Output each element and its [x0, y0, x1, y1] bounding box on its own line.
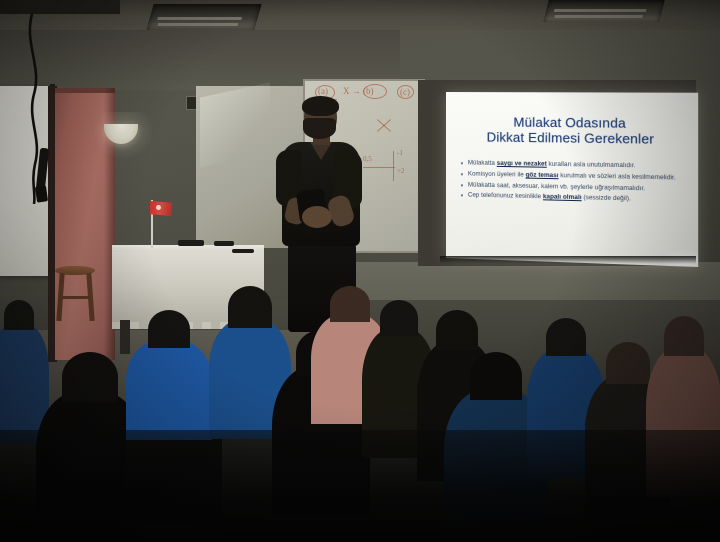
- bullet-1-pre: Mülakatta: [468, 159, 497, 167]
- cable-clip-end-icon: [35, 185, 48, 202]
- audience-member-head: [62, 352, 118, 402]
- ceiling-light-right-icon: [543, 0, 664, 22]
- table-leg: [120, 320, 130, 354]
- bullet-2-pre: Komisyon üyeleri ile: [468, 170, 526, 178]
- presenter-beard: [303, 118, 336, 139]
- bullet-2-post: kurulmalı ve sözleri asla kesilmemelidir…: [559, 172, 676, 181]
- bullet-4-emphasis: kapalı olmalı: [543, 194, 582, 202]
- presenter-hands: [302, 206, 332, 228]
- audience-member-head: [228, 286, 272, 328]
- audience-member-head: [436, 310, 478, 350]
- whiteboard-mark-6: +2: [397, 167, 404, 175]
- bullet-4-post: (sessizde değil).: [582, 194, 631, 202]
- whiteboard-mark-1: (a): [318, 86, 328, 96]
- audience-member-head: [664, 316, 704, 356]
- bullet-2-emphasis: göz teması: [526, 171, 559, 179]
- presenter-hair: [302, 96, 339, 116]
- slide-title: Mülakat Odasında Dikkat Edilmesi Gereken…: [459, 114, 684, 147]
- audience-member-head: [470, 352, 522, 400]
- audience-member-head: [148, 310, 190, 348]
- bullet-1-post: kuralları asla unutulmamalıdır.: [547, 161, 636, 170]
- table-object-3: [232, 249, 254, 253]
- table-object-2: [214, 241, 234, 246]
- stool-stretcher: [60, 296, 92, 299]
- bullet-3-pre: Mülakatta saat, aksesuar, kalem vb. şeyl…: [468, 181, 645, 192]
- turkish-flag-icon: [150, 201, 172, 216]
- audience-member-head: [330, 286, 370, 322]
- bullet-1-emphasis: saygı ve nezaket: [497, 160, 547, 168]
- bullet-4-pre: Cep telefonunuz kesinlikle: [468, 192, 543, 201]
- slide-bullet-list: Mülakatta saygı ve nezaket kuralları asl…: [459, 159, 684, 205]
- whiteboard-mark-3: (c): [400, 87, 410, 97]
- ceiling-dark-strip: [0, 0, 120, 14]
- ceiling-light-left-icon: [146, 4, 261, 30]
- flag-emblem-icon: [156, 205, 161, 210]
- audience-member-body: [126, 340, 212, 440]
- audience-member-head: [4, 300, 34, 330]
- audience-member-head: [606, 342, 650, 384]
- audience-member-head: [546, 318, 586, 356]
- audience-member-head: [380, 300, 418, 336]
- audience-member-body: [646, 347, 720, 497]
- projected-slide: Mülakat Odasında Dikkat Edilmesi Gereken…: [446, 92, 698, 267]
- classroom-photo: (a) X → (b) (c) 0,5 -1 +2 Mülakat Odasın…: [0, 0, 720, 542]
- whiteboard-mark-5: -1: [397, 149, 403, 157]
- table-object-1: [178, 240, 204, 246]
- screen-bottom-shadow: [440, 256, 696, 264]
- slide-bullet-4: Cep telefonunuz kesinlikle kapalı olmalı…: [459, 192, 684, 206]
- slide-title-line-2: Dikkat Edilmesi Gerekenler: [459, 129, 684, 147]
